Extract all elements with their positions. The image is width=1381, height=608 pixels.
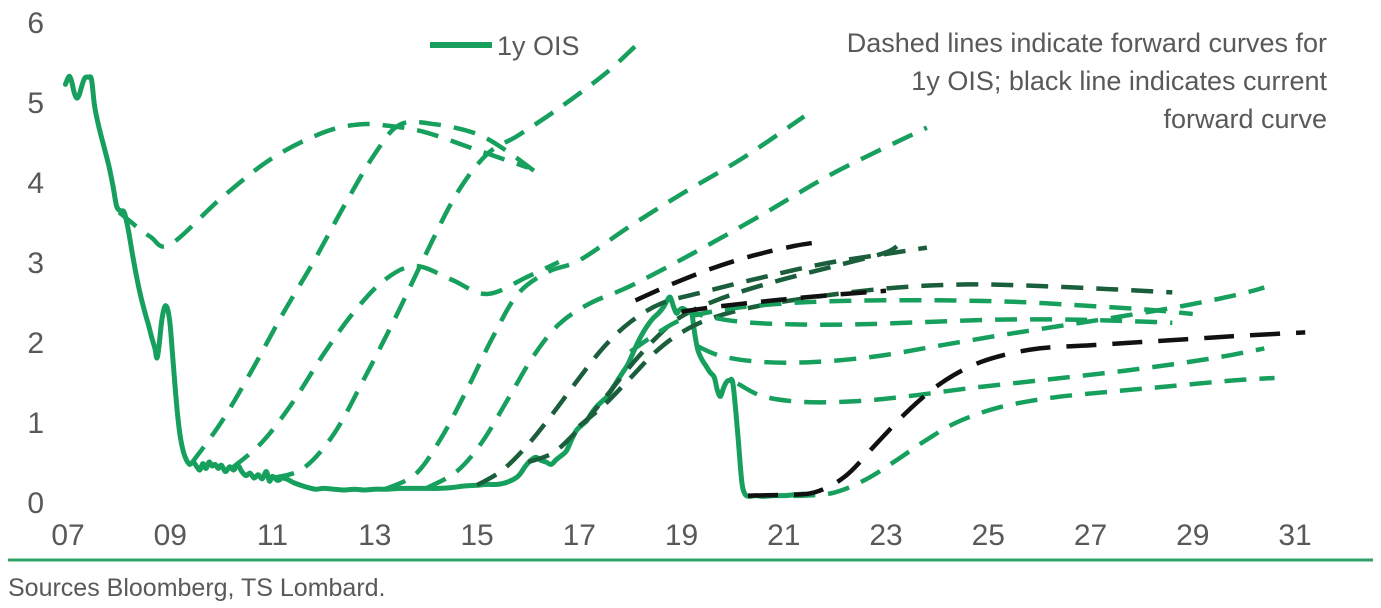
chart-page: 0123456 07091113151719212325272931 1y OI…	[0, 0, 1381, 608]
x-tick-label: 19	[665, 519, 698, 552]
x-tick-label: 09	[154, 519, 187, 552]
series-forward-curve-2010	[232, 262, 559, 468]
legend: 1y OIS	[430, 31, 580, 61]
source-label: Sources Bloomberg, TS Lombard.	[8, 574, 386, 602]
y-tick-label: 5	[27, 87, 44, 120]
y-tick-label: 4	[27, 167, 44, 200]
series-forward-curve-2021	[758, 378, 1274, 496]
x-tick-label: 25	[972, 519, 1005, 552]
x-tick-label: 29	[1176, 519, 1209, 552]
x-axis-labels: 07091113151719212325272931	[51, 519, 1311, 552]
x-tick-label: 27	[1074, 519, 1107, 552]
series-forward-curve-2015	[477, 248, 927, 486]
series-forward-curve-2019	[682, 310, 1173, 325]
legend-label-1y-ois: 1y OIS	[497, 31, 580, 61]
series-1y-ois	[65, 76, 804, 496]
annotation-line-2: 1y OIS; black line indicates current	[911, 66, 1327, 96]
annotation-line-1: Dashed lines indicate forward curves for	[847, 28, 1327, 58]
x-tick-label: 13	[358, 519, 391, 552]
oneyear-ois-forward-curves-chart: 0123456 07091113151719212325272931 1y OI…	[0, 0, 1381, 608]
x-tick-label: 17	[563, 519, 596, 552]
annotation-line-3: forward curve	[1163, 104, 1327, 134]
y-tick-label: 3	[27, 247, 44, 280]
series-forward-curve-2018	[630, 300, 1192, 351]
x-tick-label: 15	[460, 519, 493, 552]
y-axis-labels: 0123456	[27, 7, 44, 520]
x-tick-label: 23	[869, 519, 902, 552]
y-tick-label: 1	[27, 407, 44, 440]
plot-series-group	[65, 46, 1305, 496]
x-tick-label: 07	[51, 519, 84, 552]
series-forward-curve-2008	[119, 124, 528, 247]
x-tick-label: 31	[1278, 519, 1311, 552]
y-tick-label: 6	[27, 7, 44, 40]
x-tick-label: 21	[767, 519, 800, 552]
y-tick-label: 2	[27, 327, 44, 360]
y-tick-label: 0	[27, 487, 44, 520]
annotation-text: Dashed lines indicate forward curves for…	[847, 28, 1328, 134]
x-tick-label: 11	[257, 519, 288, 552]
